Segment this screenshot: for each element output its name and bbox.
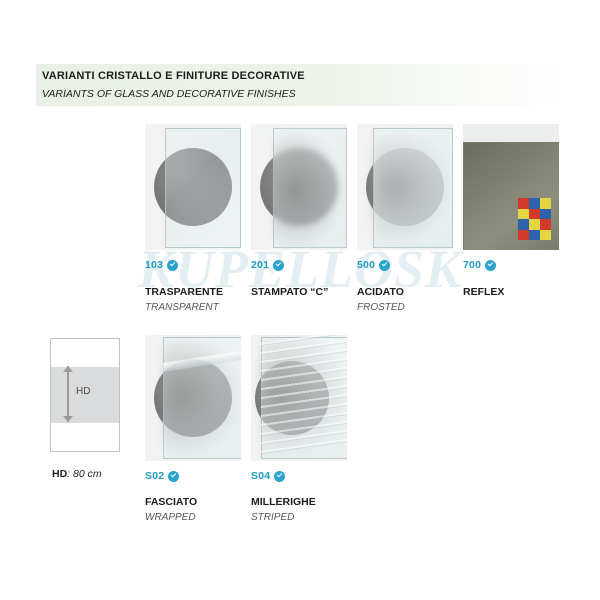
code-label: S04 xyxy=(251,470,270,482)
sample-tile-millerighe xyxy=(251,335,347,461)
glass-pane xyxy=(165,128,241,248)
code-row-transparent: 103 xyxy=(145,259,178,271)
pane-frost-overlay xyxy=(373,128,451,246)
sample-name-en: TRANSPARENT xyxy=(145,302,219,313)
hd-dimension-arrow xyxy=(62,366,74,422)
sample-name-it: REFLEX xyxy=(463,286,504,298)
code-row-millerighe: S04 xyxy=(251,470,285,482)
sample-tile-transparent xyxy=(145,124,241,250)
sample-name-en: FROSTED xyxy=(357,302,405,313)
sample-tile-reflex xyxy=(463,124,559,250)
hd-caption-label: HD xyxy=(52,468,67,480)
check-icon xyxy=(273,260,284,271)
sample-tile-stampato-c xyxy=(251,124,347,250)
code-label: 700 xyxy=(463,259,481,271)
code-row-fasciato: S02 xyxy=(145,470,179,482)
check-icon xyxy=(274,471,285,482)
page-subtitle: VARIANTS OF GLASS AND DECORATIVE FINISHE… xyxy=(42,88,296,100)
code-row-stampato-c: 201 xyxy=(251,259,284,271)
check-icon xyxy=(167,260,178,271)
sample-name-en: STRIPED xyxy=(251,512,294,523)
sample-tile-fasciato xyxy=(145,335,241,461)
sample-tile-acidato xyxy=(357,124,453,250)
sample-name-en: WRAPPED xyxy=(145,512,196,523)
check-icon xyxy=(379,260,390,271)
check-icon xyxy=(168,471,179,482)
hd-caption-value: : 80 cm xyxy=(67,468,101,480)
code-label: 500 xyxy=(357,259,375,271)
page-title: VARIANTI CRISTALLO E FINITURE DECORATIVE xyxy=(42,70,305,82)
color-swatch-grid xyxy=(518,198,551,240)
code-label: 103 xyxy=(145,259,163,271)
code-label: 201 xyxy=(251,259,269,271)
code-row-acidato: 500 xyxy=(357,259,390,271)
sample-name-it: FASCIATO xyxy=(145,496,197,508)
code-row-reflex: 700 xyxy=(463,259,496,271)
hd-caption: HD: 80 cm xyxy=(52,468,102,480)
sample-name-it: STAMPATO “C” xyxy=(251,286,328,298)
stripe-pattern xyxy=(261,335,347,457)
sample-name-it: ACIDATO xyxy=(357,286,404,298)
sample-name-it: TRASPARENTE xyxy=(145,286,223,298)
code-label: S02 xyxy=(145,470,164,482)
page-root: VARIANTI CRISTALLO E FINITURE DECORATIVE… xyxy=(0,0,600,600)
pane-blur-overlay xyxy=(273,128,345,246)
hd-inner-label: HD xyxy=(76,386,90,397)
check-icon xyxy=(485,260,496,271)
sample-name-it: MILLERIGHE xyxy=(251,496,316,508)
